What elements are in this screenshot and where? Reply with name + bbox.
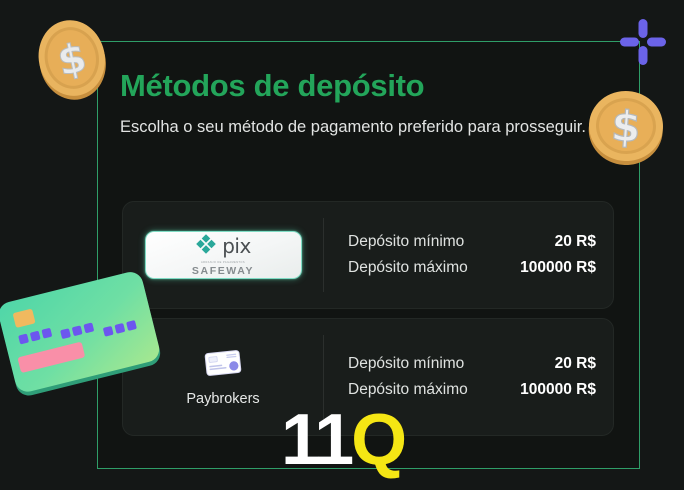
min-deposit-row: Depósito mínimo 20 R$ (348, 229, 596, 255)
credit-card-icon (0, 272, 167, 405)
min-deposit-label: Depósito mínimo (348, 229, 464, 255)
paybrokers-wordmark: Paybrokers (186, 391, 259, 407)
pix-wordmark: pix (222, 236, 251, 256)
min-deposit-row: Depósito mínimo 20 R$ (348, 351, 596, 377)
pix-logo-badge: pix ARRANJO DE PAGAMENTOS SAFEWAY (145, 231, 302, 279)
max-deposit-row: Depósito máximo 100000 R$ (348, 255, 596, 281)
max-deposit-label: Depósito máximo (348, 377, 468, 403)
payment-method-card-pix[interactable]: pix ARRANJO DE PAGAMENTOS SAFEWAY Depósi… (122, 201, 614, 309)
coin-dollar-icon: $ (31, 15, 113, 103)
brand-watermark: 11Q (281, 404, 404, 476)
safeway-wordmark: SAFEWAY (192, 266, 254, 277)
max-deposit-value: 100000 R$ (520, 255, 596, 281)
pix-diamond-icon (195, 233, 217, 260)
max-deposit-row: Depósito máximo 100000 R$ (348, 377, 596, 403)
max-deposit-label: Depósito máximo (348, 255, 468, 281)
min-deposit-value: 20 R$ (555, 351, 596, 377)
page-subtitle: Escolha o seu método de pagamento prefer… (120, 116, 590, 139)
svg-text:$: $ (610, 101, 643, 152)
max-deposit-value: 100000 R$ (520, 377, 596, 403)
watermark-part-one: 11 (281, 400, 351, 480)
pix-amounts: Depósito mínimo 20 R$ Depósito máximo 10… (324, 229, 613, 280)
coin-dollar-icon: $ (581, 83, 671, 169)
min-deposit-value: 20 R$ (555, 229, 596, 255)
deposit-methods-screen: Métodos de depósito Escolha o seu método… (0, 0, 684, 490)
paybrokers-amounts: Depósito mínimo 20 R$ Depósito máximo 10… (324, 351, 613, 402)
watermark-part-two: Q (351, 400, 404, 480)
page-title: Métodos de depósito (120, 68, 424, 104)
min-deposit-label: Depósito mínimo (348, 351, 464, 377)
plus-sparkle-icon (617, 16, 669, 73)
credit-card-icon (203, 347, 243, 384)
